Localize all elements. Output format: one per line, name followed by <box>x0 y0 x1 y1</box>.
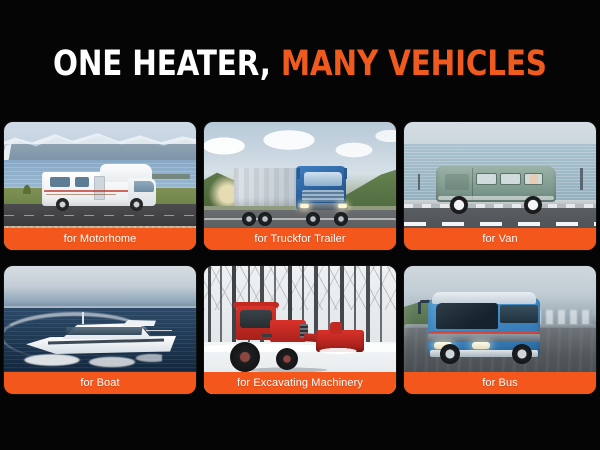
truck-mirror-right <box>344 168 347 179</box>
vehicle-card-grid: for Motorhome <box>4 122 596 394</box>
card-label-excavating-machinery: for Excavating Machinery <box>204 372 396 394</box>
bus-mirror-arm <box>418 302 421 314</box>
truck-wheel-2 <box>258 212 272 226</box>
bus-windscreen <box>436 303 498 329</box>
card-label-van: for Van <box>404 228 596 250</box>
motion-blur <box>404 296 414 336</box>
van-side-panel <box>445 174 469 190</box>
reeds <box>20 178 34 194</box>
motorhome-window-mid <box>75 177 89 187</box>
vehicle-card-boat[interactable]: for Boat <box>4 266 196 394</box>
yacht-mast <box>82 312 84 324</box>
truck-headlight-left <box>300 204 309 208</box>
mountain-snowcap <box>4 128 196 144</box>
motorhome-door <box>94 176 105 200</box>
tractor-wheel-rear <box>230 342 260 372</box>
truck-wheel-3 <box>306 212 320 226</box>
truck-wheel-4 <box>334 212 348 226</box>
van-vehicle <box>436 166 556 212</box>
snow-blower-chute <box>330 322 342 334</box>
yacht-windows <box>65 327 142 335</box>
yacht-railing <box>146 330 172 337</box>
tractor-step <box>262 334 272 337</box>
van-window-1 <box>476 173 497 185</box>
vehicle-card-excavating-machinery[interactable]: for Excavating Machinery <box>204 266 396 394</box>
bus-headlight-right <box>472 342 490 349</box>
van-wheel-front <box>524 196 542 214</box>
banner-title: ONE HEATER, MANY VEHICLES <box>0 44 600 84</box>
title-primary-text: ONE HEATER, <box>53 44 271 84</box>
card-label-truck: for Truckfor Trailer <box>204 228 396 250</box>
motorhome-stripe-secondary <box>46 194 116 195</box>
van-window-2 <box>500 173 521 185</box>
road-marking <box>404 222 596 226</box>
van-driver <box>530 174 538 184</box>
tractor-cab-glass <box>240 310 272 328</box>
bus-side-windows <box>500 305 538 323</box>
motorhome-wheel-front <box>130 198 143 211</box>
motorhome-wheel-rear <box>56 198 69 211</box>
truck-mirror-left <box>297 168 300 179</box>
card-label-boat: for Boat <box>4 372 196 394</box>
vehicle-card-van[interactable]: for Van <box>404 122 596 250</box>
bus-wheel-rear <box>512 344 532 364</box>
bus-accent-stripe <box>430 331 540 333</box>
yacht-fore-deck <box>122 320 156 326</box>
truck-vehicle <box>234 166 358 224</box>
tractor-wheel-front <box>276 348 298 370</box>
bus-lower-panel <box>428 334 540 342</box>
sea-post-1 <box>418 174 420 190</box>
thrown-snow <box>308 346 366 356</box>
truck-wheel-1 <box>242 212 256 226</box>
vehicle-card-motorhome[interactable]: for Motorhome <box>4 122 196 250</box>
motorhome-windscreen <box>134 181 154 192</box>
excavating-machinery-vehicle <box>220 306 364 372</box>
bus-wheel-front <box>440 344 460 364</box>
promo-banner: ONE HEATER, MANY VEHICLES <box>0 0 600 450</box>
truck-trailer <box>234 168 304 206</box>
truck-headlight-right <box>338 204 347 208</box>
vehicle-card-bus[interactable]: for Bus <box>404 266 596 394</box>
motorhome-stripe <box>44 190 128 192</box>
motorhome-window-rear <box>50 177 70 187</box>
card-label-bus: for Bus <box>404 372 596 394</box>
van-wheel-rear <box>450 196 468 214</box>
boat-vehicle <box>26 314 176 354</box>
vehicle-card-truck[interactable]: for Truckfor Trailer <box>204 122 396 250</box>
truck-windscreen <box>304 172 342 186</box>
sea-post-4 <box>580 168 583 190</box>
truck-grille <box>302 190 344 202</box>
motorhome-vehicle <box>42 164 158 210</box>
title-accent-text: MANY VEHICLES <box>281 44 547 84</box>
card-label-motorhome: for Motorhome <box>4 228 196 250</box>
bus-vehicle <box>428 292 550 366</box>
mountain-range <box>4 128 196 162</box>
